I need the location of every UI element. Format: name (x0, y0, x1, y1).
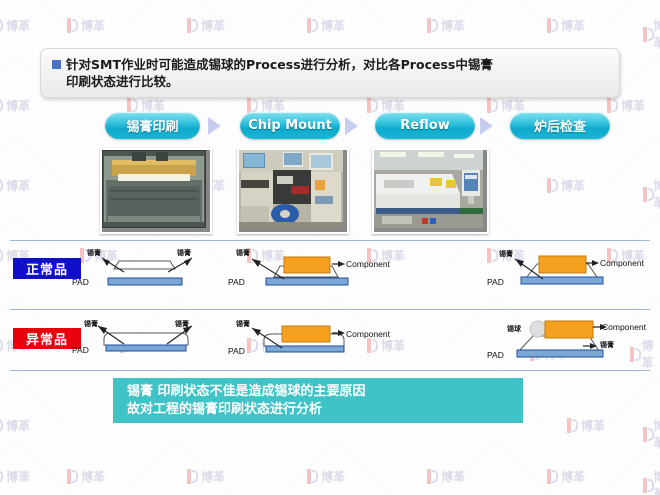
watermark-logo: 博革 (643, 17, 660, 51)
process-step-reflow[interactable]: Reflow (375, 112, 475, 139)
diagram-normal-post-reflow-inspection: 锡膏 Component PAD (487, 245, 660, 293)
watermark-logo: 博革 (0, 417, 30, 434)
b-logo-icon (0, 248, 3, 263)
conclusion-line-2: 故对工程的锡膏印刷状态进行分析 (127, 401, 523, 419)
callout-paste-right: 锡膏 (177, 248, 191, 257)
callout-paste-left: 锡膏 (84, 319, 98, 328)
b-logo-icon (547, 469, 558, 484)
conclusion-box: 锡膏 印刷状态不佳是造成锡球的主要原因 故对工程的锡膏印刷状态进行分析 (113, 378, 523, 423)
watermark-logo: 博革 (0, 17, 30, 34)
statement-line-1: 针对SMT作业时可能造成锡球的Process进行分析，对比各Process中锡膏 (66, 56, 493, 73)
b-logo-icon (67, 469, 78, 484)
callout-solder-ball: 锡球 (507, 324, 522, 333)
diagram-abnormal-post-reflow-inspection: 锡球 Component 锡膏 PAD (487, 315, 660, 367)
watermark-cross (0, 374, 71, 480)
b-logo-icon (0, 98, 3, 113)
b-logo-icon (0, 18, 3, 33)
watermark-logo: 博革 (643, 468, 660, 495)
watermark-logo: 博革 (0, 177, 30, 194)
b-logo-icon (643, 478, 650, 493)
watermark-cross (0, 134, 71, 240)
statement-text: 针对SMT作业时可能造成锡球的Process进行分析，对比各Process中锡膏… (66, 56, 493, 90)
row-divider (10, 240, 650, 241)
b-logo-icon (487, 98, 498, 113)
watermark-cross (604, 439, 660, 495)
process-step-solder-paste-printing[interactable]: 锡膏印刷 (105, 112, 200, 139)
watermark-logo: 博革 (187, 17, 225, 34)
b-logo-icon (547, 18, 558, 33)
label-pad: PAD (72, 277, 89, 287)
watermark-logo: 博革 (547, 468, 585, 485)
watermark-logo: 博革 (307, 468, 345, 485)
chip-mounter-photo (237, 148, 349, 234)
b-logo-icon (367, 98, 378, 113)
row-divider (10, 309, 650, 310)
reflow-oven-photo (372, 148, 489, 234)
watermark-logo: 博革 (67, 17, 105, 34)
b-logo-icon (247, 98, 258, 113)
watermark-cross (124, 439, 230, 495)
callout-component: Component (602, 322, 647, 332)
row-divider (10, 370, 650, 371)
flow-arrow-icon (345, 117, 358, 135)
diagram-normal-paste-print: 锡膏 锡膏 PAD (72, 245, 222, 293)
label-pad: PAD (72, 345, 89, 355)
row-label-abnormal: 异常品 (13, 328, 81, 349)
callout-component: Component (346, 329, 391, 339)
b-logo-icon (643, 187, 650, 202)
b-logo-icon (0, 469, 3, 484)
bullet-square-icon (52, 60, 61, 69)
b-logo-icon (0, 418, 3, 433)
b-logo-icon (427, 18, 438, 33)
process-flow-row: 锡膏印刷 Chip Mount Reflow 炉后检查 (0, 112, 660, 144)
b-logo-icon (307, 18, 318, 33)
b-logo-icon (427, 469, 438, 484)
watermark-logo: 博革 (547, 17, 585, 34)
solder-paste-printer-photo (100, 148, 212, 234)
b-logo-icon (643, 27, 650, 42)
callout-paste: 锡膏 (236, 319, 250, 328)
callout-paste: 锡膏 (236, 248, 250, 257)
solder-ball-shape (530, 321, 546, 337)
watermark-logo: 博革 (67, 468, 105, 485)
statement-box: 针对SMT作业时可能造成锡球的Process进行分析，对比各Process中锡膏… (40, 48, 620, 98)
conclusion-line-1: 锡膏 印刷状态不佳是造成锡球的主要原因 (127, 383, 523, 401)
callout-paste: 锡膏 (499, 249, 513, 258)
process-step-post-furnace-inspection[interactable]: 炉后检查 (510, 112, 610, 139)
slide-canvas: 博革 博革 博革 博革 博革 博革 博革 博革 博革 博革 博革 博革 博革 博… (0, 0, 660, 495)
b-logo-icon (547, 178, 558, 193)
watermark-cross (0, 439, 71, 495)
b-logo-icon (187, 18, 198, 33)
watermark-logo: 博革 (547, 177, 585, 194)
callout-paste: 锡膏 (600, 340, 614, 349)
b-logo-icon (67, 18, 78, 33)
callout-paste-left: 锡膏 (87, 248, 101, 257)
b-logo-icon (0, 338, 3, 353)
watermark-logo: 博革 (643, 417, 660, 451)
row-label-normal: 正常品 (13, 258, 81, 279)
watermark-logo: 博革 (567, 417, 605, 434)
diagram-abnormal-paste-print: 锡膏 锡膏 PAD (72, 318, 222, 364)
watermark-cross (604, 374, 660, 480)
label-pad: PAD (228, 277, 245, 287)
statement-line-2: 印刷状态进行比较。 (66, 73, 493, 90)
flow-arrow-icon (480, 117, 493, 135)
watermark-logo: 博革 (643, 177, 660, 211)
b-logo-icon (127, 98, 138, 113)
flow-arrow-icon (208, 117, 221, 135)
b-logo-icon (643, 427, 650, 442)
diagram-abnormal-chip-mount: 锡膏 Component PAD (228, 318, 403, 364)
b-logo-icon (187, 469, 198, 484)
callout-component: Component (346, 259, 391, 269)
b-logo-icon (0, 178, 3, 193)
watermark-logo: 博革 (427, 468, 465, 485)
label-pad: PAD (228, 346, 245, 356)
watermark-cross (604, 134, 660, 240)
watermark-logo: 博革 (187, 468, 225, 485)
watermark-logo: 博革 (427, 17, 465, 34)
callout-paste-right: 锡膏 (175, 319, 189, 328)
callout-component: Component (600, 258, 645, 268)
b-logo-icon (307, 469, 318, 484)
watermark-cross (284, 439, 390, 495)
watermark-cross (444, 439, 550, 495)
label-pad: PAD (487, 350, 504, 360)
watermark-logo: 博革 (0, 468, 30, 485)
label-pad: PAD (487, 277, 504, 287)
diagram-normal-chip-mount: 锡膏 Component PAD (228, 245, 403, 293)
process-step-chip-mount[interactable]: Chip Mount (240, 112, 340, 139)
watermark-logo: 博革 (307, 17, 345, 34)
b-logo-icon (567, 418, 578, 433)
b-logo-icon (607, 98, 618, 113)
